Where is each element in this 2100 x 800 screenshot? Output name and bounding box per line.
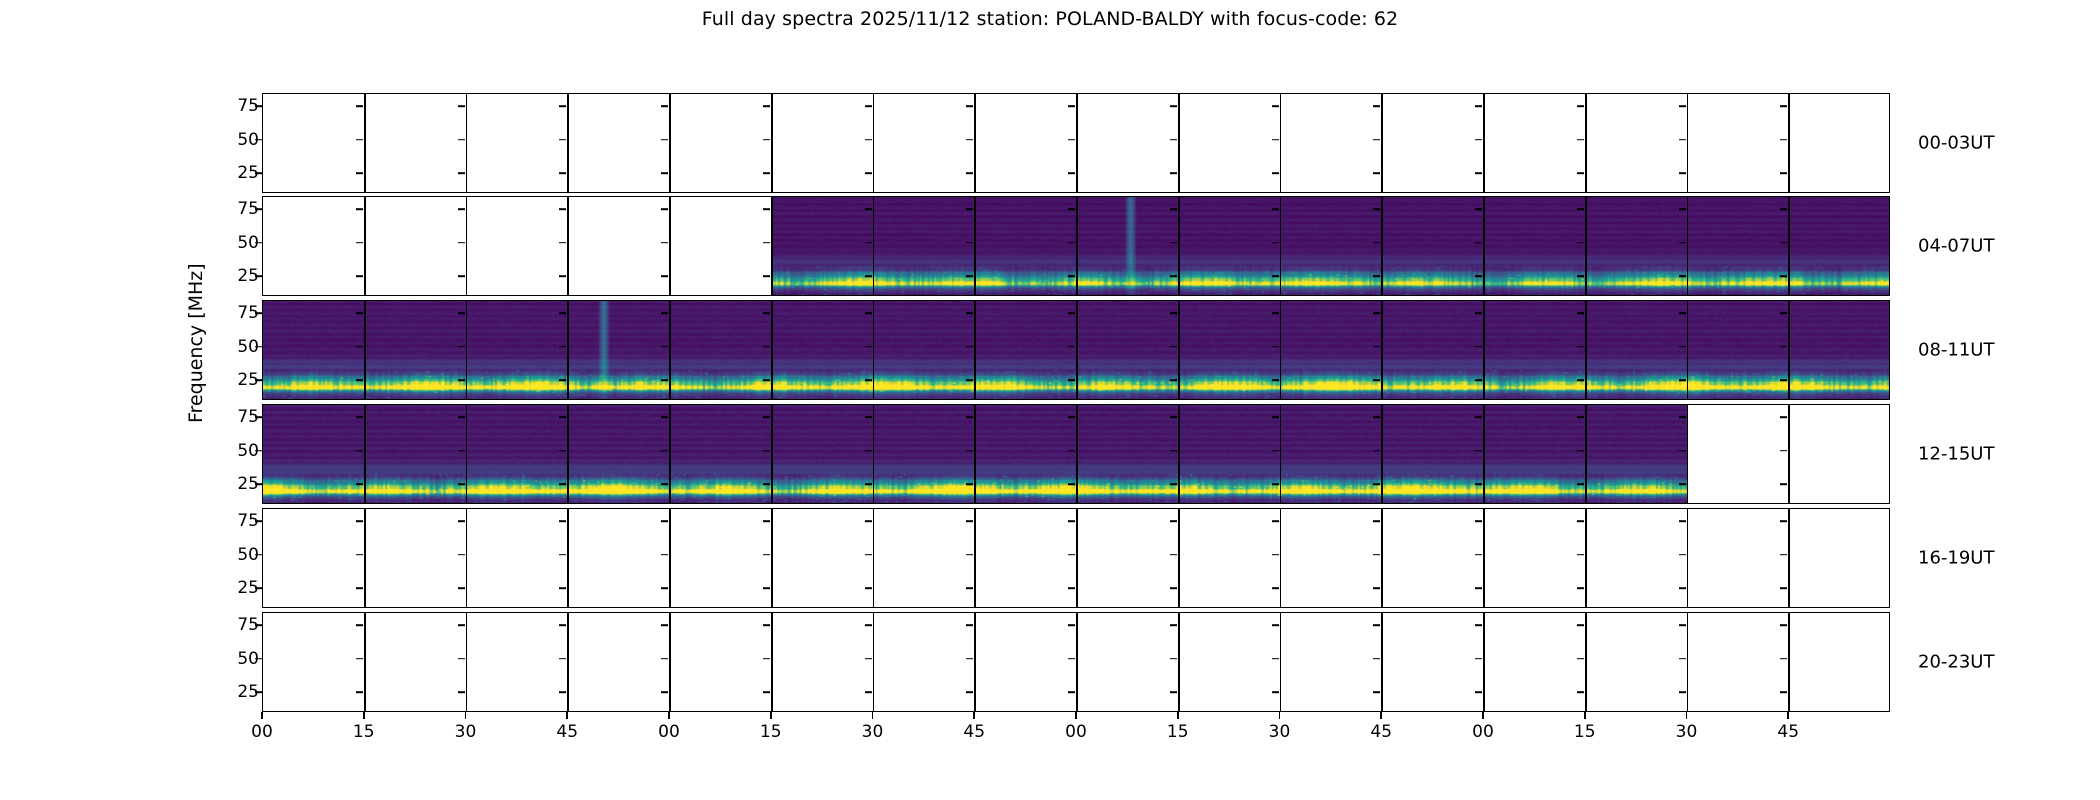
y-tick-mark-inner xyxy=(1373,483,1380,485)
y-tick-mark-inner xyxy=(1170,521,1177,523)
y-tick-mark xyxy=(255,346,262,348)
cell-divider xyxy=(1381,405,1383,503)
cell-divider xyxy=(466,613,468,711)
y-tick-mark-inner xyxy=(1679,209,1686,211)
y-tick-mark-inner xyxy=(1373,172,1380,174)
y-tick-mark-inner xyxy=(865,417,872,419)
y-tick-mark-inner xyxy=(763,139,770,141)
x-tick-label: 45 xyxy=(556,722,578,742)
y-tick-mark-inner xyxy=(763,242,770,244)
cell-divider xyxy=(1076,94,1078,192)
x-tick-label: 30 xyxy=(1676,722,1698,742)
x-tick-label: 45 xyxy=(963,722,985,742)
cell-divider xyxy=(873,301,875,399)
y-tick-mark-inner xyxy=(1373,691,1380,693)
cell-divider xyxy=(1280,301,1282,399)
y-tick-mark-inner xyxy=(1068,691,1075,693)
cell-divider xyxy=(974,613,976,711)
y-tick-mark-inner xyxy=(559,313,566,315)
cell-divider xyxy=(1178,94,1180,192)
y-tick-mark-inner xyxy=(1170,379,1177,381)
y-tick-mark-inner xyxy=(661,106,668,108)
y-tick-mark-inner xyxy=(1475,346,1482,348)
y-tick-mark-inner xyxy=(661,554,668,556)
y-tick-mark-inner xyxy=(763,313,770,315)
y-tick-mark-inner xyxy=(356,417,363,419)
y-tick-mark-inner xyxy=(1679,139,1686,141)
y-tick-mark-inner xyxy=(559,554,566,556)
y-tick-mark xyxy=(255,379,262,381)
y-tick-mark-inner xyxy=(1373,417,1380,419)
figure-title: Full day spectra 2025/11/12 station: POL… xyxy=(0,8,2100,30)
cell-divider xyxy=(364,94,366,192)
y-tick-mark-inner xyxy=(1272,450,1279,452)
y-tick-mark-inner xyxy=(1780,587,1787,589)
x-tick-label: 00 xyxy=(1472,722,1494,742)
y-tick-mark-inner xyxy=(966,172,973,174)
y-tick-mark-inner xyxy=(458,209,465,211)
cell-divider xyxy=(466,197,468,295)
y-tick-mark-inner xyxy=(458,139,465,141)
cell-divider xyxy=(1687,197,1689,295)
y-tick-mark-inner xyxy=(356,379,363,381)
cell-divider xyxy=(1280,405,1282,503)
y-tick-mark xyxy=(255,587,262,589)
cell-divider xyxy=(567,509,569,607)
y-tick-mark-inner xyxy=(559,587,566,589)
y-tick-mark-inner xyxy=(1272,483,1279,485)
y-tick-mark-inner xyxy=(1068,172,1075,174)
y-tick-mark-inner xyxy=(1780,139,1787,141)
y-tick-mark-inner xyxy=(1577,242,1584,244)
cell-divider xyxy=(466,94,468,192)
y-tick-mark-inner xyxy=(1780,275,1787,277)
cell-divider xyxy=(1076,197,1078,295)
plot-area xyxy=(262,300,1890,400)
y-tick-mark-inner xyxy=(865,346,872,348)
y-tick-mark-inner xyxy=(356,172,363,174)
cell-divider xyxy=(1483,509,1485,607)
y-tick-mark-inner xyxy=(1577,587,1584,589)
y-tick-mark-inner xyxy=(1679,346,1686,348)
spectrogram-image xyxy=(772,197,1890,295)
y-tick-mark xyxy=(255,483,262,485)
y-tick-mark-inner xyxy=(356,313,363,315)
y-tick-mark-inner xyxy=(1272,554,1279,556)
y-tick-mark xyxy=(255,625,262,627)
y-tick-mark-inner xyxy=(1373,275,1380,277)
x-tick-mark xyxy=(1482,712,1484,719)
cell-divider xyxy=(1178,301,1180,399)
y-tick-mark-inner xyxy=(458,691,465,693)
y-tick-mark-inner xyxy=(1170,625,1177,627)
y-tick-mark-inner xyxy=(1170,691,1177,693)
y-tick-mark-inner xyxy=(966,139,973,141)
y-tick-mark-inner xyxy=(1475,417,1482,419)
y-tick-mark-inner xyxy=(1272,587,1279,589)
cell-divider xyxy=(1585,405,1587,503)
y-tick-mark-inner xyxy=(1577,106,1584,108)
y-tick-mark-inner xyxy=(1373,139,1380,141)
y-tick-mark-inner xyxy=(356,139,363,141)
y-tick-mark-inner xyxy=(1475,106,1482,108)
y-tick-mark-inner xyxy=(1272,346,1279,348)
y-tick-mark-inner xyxy=(1373,209,1380,211)
x-tick-mark xyxy=(1787,712,1789,719)
spectrogram-figure: Full day spectra 2025/11/12 station: POL… xyxy=(0,0,2100,800)
cell-divider xyxy=(669,301,671,399)
y-tick-mark xyxy=(255,172,262,174)
x-tick-mark xyxy=(261,712,263,719)
y-tick-mark-inner xyxy=(966,691,973,693)
y-tick-mark-inner xyxy=(1170,554,1177,556)
y-tick-mark-inner xyxy=(1679,554,1686,556)
y-tick-mark-inner xyxy=(1170,242,1177,244)
cell-divider xyxy=(669,509,671,607)
cell-divider xyxy=(1483,613,1485,711)
y-tick-mark-inner xyxy=(356,554,363,556)
y-tick-mark-inner xyxy=(1679,275,1686,277)
y-tick-mark-inner xyxy=(559,209,566,211)
y-tick-mark-inner xyxy=(966,450,973,452)
y-tick-mark-inner xyxy=(1780,346,1787,348)
y-tick-mark-inner xyxy=(1475,209,1482,211)
y-tick-mark-inner xyxy=(356,625,363,627)
y-tick-mark-inner xyxy=(1780,483,1787,485)
y-tick-mark-inner xyxy=(661,209,668,211)
y-tick-mark-inner xyxy=(966,275,973,277)
y-tick-mark-inner xyxy=(458,106,465,108)
y-tick-mark-inner xyxy=(1475,521,1482,523)
subplot-row-16-19ut: 755025 xyxy=(262,508,1890,608)
y-tick-mark-inner xyxy=(966,483,973,485)
y-tick-mark-inner xyxy=(1272,691,1279,693)
y-tick-mark-inner xyxy=(1068,313,1075,315)
y-tick-mark-inner xyxy=(865,313,872,315)
cell-divider xyxy=(567,405,569,503)
y-tick-mark-inner xyxy=(559,658,566,660)
cell-divider xyxy=(1687,301,1689,399)
y-tick-mark xyxy=(255,139,262,141)
y-tick-mark-inner xyxy=(559,483,566,485)
x-tick-mark xyxy=(872,712,874,719)
plot-area xyxy=(262,93,1890,193)
y-tick-mark-inner xyxy=(661,139,668,141)
cell-divider xyxy=(1788,197,1790,295)
y-tick-mark-inner xyxy=(1170,417,1177,419)
y-tick-mark-inner xyxy=(1780,691,1787,693)
y-tick-mark-inner xyxy=(1475,450,1482,452)
y-tick-mark-inner xyxy=(559,139,566,141)
y-tick-mark-inner xyxy=(865,625,872,627)
y-tick-mark-inner xyxy=(1068,625,1075,627)
y-tick-mark-inner xyxy=(966,242,973,244)
y-tick-mark-inner xyxy=(458,313,465,315)
cell-divider xyxy=(1178,405,1180,503)
cell-divider xyxy=(1788,301,1790,399)
cell-divider xyxy=(771,405,773,503)
y-tick-mark-inner xyxy=(356,450,363,452)
x-tick-label: 00 xyxy=(251,722,273,742)
y-tick-mark-inner xyxy=(559,346,566,348)
y-tick-mark-inner xyxy=(1780,554,1787,556)
y-tick-mark-inner xyxy=(1373,379,1380,381)
cell-divider xyxy=(974,94,976,192)
cell-divider xyxy=(1280,509,1282,607)
y-tick-mark-inner xyxy=(1068,554,1075,556)
y-tick-mark-inner xyxy=(356,346,363,348)
cell-divider xyxy=(466,301,468,399)
y-tick-mark-inner xyxy=(661,242,668,244)
y-tick-mark-inner xyxy=(1475,275,1482,277)
cell-divider xyxy=(1687,509,1689,607)
y-tick-mark-inner xyxy=(966,106,973,108)
y-tick-mark-inner xyxy=(1679,417,1686,419)
y-tick-mark-inner xyxy=(1068,483,1075,485)
y-tick-mark-inner xyxy=(1679,658,1686,660)
y-tick-mark-inner xyxy=(1577,450,1584,452)
x-tick-mark xyxy=(363,712,365,719)
cell-divider xyxy=(1585,197,1587,295)
cell-divider xyxy=(873,405,875,503)
x-tick-label: 30 xyxy=(862,722,884,742)
y-tick-mark-inner xyxy=(356,275,363,277)
y-tick-mark-inner xyxy=(865,554,872,556)
y-tick-mark-inner xyxy=(661,483,668,485)
y-tick-mark-inner xyxy=(356,209,363,211)
y-tick-mark-inner xyxy=(763,209,770,211)
y-tick-mark xyxy=(255,521,262,523)
cell-divider xyxy=(364,197,366,295)
y-tick-mark-inner xyxy=(966,625,973,627)
y-tick-mark-inner xyxy=(1373,313,1380,315)
y-tick-mark-inner xyxy=(1679,172,1686,174)
y-tick-mark-inner xyxy=(661,450,668,452)
row-label-12-15ut: 12-15UT xyxy=(1918,444,1994,465)
y-tick-mark-inner xyxy=(458,483,465,485)
subplot-row-08-11ut: 755025 xyxy=(262,300,1890,400)
cell-divider xyxy=(771,94,773,192)
y-tick-mark-inner xyxy=(661,313,668,315)
cell-divider xyxy=(1076,301,1078,399)
y-tick-mark-inner xyxy=(1475,139,1482,141)
x-tick-label: 15 xyxy=(1574,722,1596,742)
cell-divider xyxy=(1076,613,1078,711)
cell-divider xyxy=(1178,197,1180,295)
y-tick-mark-inner xyxy=(356,658,363,660)
y-tick-mark-inner xyxy=(763,379,770,381)
y-tick-mark-inner xyxy=(458,346,465,348)
y-tick-mark-inner xyxy=(1068,242,1075,244)
y-tick-mark-inner xyxy=(865,587,872,589)
cell-divider xyxy=(1585,301,1587,399)
y-tick-mark-inner xyxy=(1577,554,1584,556)
y-tick-mark-inner xyxy=(1373,554,1380,556)
cell-divider xyxy=(873,509,875,607)
y-tick-mark-inner xyxy=(458,658,465,660)
y-tick-mark xyxy=(255,554,262,556)
cell-divider xyxy=(364,405,366,503)
y-tick-mark-inner xyxy=(1577,691,1584,693)
subplot-row-04-07ut: 755025 xyxy=(262,196,1890,296)
cell-divider xyxy=(974,197,976,295)
x-tick-label: 15 xyxy=(760,722,782,742)
y-tick-mark-inner xyxy=(763,275,770,277)
y-tick-mark-inner xyxy=(1170,313,1177,315)
cell-divider xyxy=(1280,94,1282,192)
y-tick-mark-inner xyxy=(559,625,566,627)
cell-divider xyxy=(669,197,671,295)
cell-divider xyxy=(567,613,569,711)
y-tick-mark-inner xyxy=(1068,417,1075,419)
cell-divider xyxy=(1178,613,1180,711)
cell-divider xyxy=(466,509,468,607)
y-tick-mark-inner xyxy=(763,554,770,556)
y-tick-mark-inner xyxy=(1679,625,1686,627)
y-tick-mark-inner xyxy=(1170,139,1177,141)
y-tick-mark xyxy=(255,242,262,244)
y-tick-mark-inner xyxy=(763,658,770,660)
y-tick-mark-inner xyxy=(1373,521,1380,523)
y-tick-mark-inner xyxy=(1170,450,1177,452)
y-tick-mark-inner xyxy=(559,417,566,419)
y-tick-mark xyxy=(255,209,262,211)
y-tick-mark-inner xyxy=(1577,521,1584,523)
y-tick-mark-inner xyxy=(1475,625,1482,627)
y-tick-mark-inner xyxy=(1577,417,1584,419)
y-tick-mark-inner xyxy=(1068,106,1075,108)
y-tick-mark-inner xyxy=(458,172,465,174)
y-tick-mark-inner xyxy=(1780,313,1787,315)
x-tick-mark xyxy=(668,712,670,719)
y-tick-mark-inner xyxy=(661,587,668,589)
cell-divider xyxy=(1687,405,1689,503)
y-tick-mark-inner xyxy=(661,275,668,277)
y-tick-mark-inner xyxy=(1272,658,1279,660)
row-label-20-23ut: 20-23UT xyxy=(1918,652,1994,673)
y-tick-mark-inner xyxy=(966,554,973,556)
x-tick-mark xyxy=(465,712,467,719)
y-tick-mark-inner xyxy=(458,417,465,419)
row-label-00-03ut: 00-03UT xyxy=(1918,133,1994,154)
x-tick-mark xyxy=(1177,712,1179,719)
y-tick-mark-inner xyxy=(865,521,872,523)
subplot-row-00-03ut: 755025 xyxy=(262,93,1890,193)
y-tick-mark-inner xyxy=(1780,242,1787,244)
y-tick-mark-inner xyxy=(865,658,872,660)
y-tick-mark-inner xyxy=(661,658,668,660)
y-tick-mark xyxy=(255,691,262,693)
y-tick-mark-inner xyxy=(661,346,668,348)
y-tick-mark-inner xyxy=(966,379,973,381)
y-tick-mark-inner xyxy=(763,346,770,348)
y-tick-mark-inner xyxy=(458,450,465,452)
cell-divider xyxy=(771,509,773,607)
x-tick-mark xyxy=(770,712,772,719)
y-tick-mark-inner xyxy=(1272,417,1279,419)
y-tick-mark-inner xyxy=(1577,379,1584,381)
cell-divider xyxy=(1687,613,1689,711)
y-tick-mark-inner xyxy=(1068,521,1075,523)
y-tick-mark-inner xyxy=(559,521,566,523)
row-label-16-19ut: 16-19UT xyxy=(1918,548,1994,569)
y-tick-mark-inner xyxy=(1679,106,1686,108)
y-tick-mark-inner xyxy=(661,521,668,523)
y-tick-mark-inner xyxy=(1780,106,1787,108)
row-label-04-07ut: 04-07UT xyxy=(1918,236,1994,257)
y-tick-mark xyxy=(255,313,262,315)
cell-divider xyxy=(1381,301,1383,399)
y-tick-mark-inner xyxy=(1780,625,1787,627)
y-tick-mark-inner xyxy=(865,691,872,693)
y-tick-mark-inner xyxy=(1272,209,1279,211)
y-tick-mark-inner xyxy=(1679,242,1686,244)
y-tick-mark-inner xyxy=(1475,691,1482,693)
y-tick-mark-inner xyxy=(1475,242,1482,244)
y-tick-mark-inner xyxy=(1272,139,1279,141)
y-tick-mark-inner xyxy=(559,242,566,244)
cell-divider xyxy=(1585,509,1587,607)
y-tick-mark-inner xyxy=(763,625,770,627)
y-tick-mark-inner xyxy=(763,587,770,589)
y-tick-mark-inner xyxy=(1170,106,1177,108)
cell-divider xyxy=(669,613,671,711)
y-tick-mark-inner xyxy=(1272,275,1279,277)
y-tick-mark-inner xyxy=(966,209,973,211)
y-tick-mark-inner xyxy=(763,521,770,523)
plot-area xyxy=(262,508,1890,608)
cell-divider xyxy=(364,509,366,607)
y-tick-mark-inner xyxy=(661,417,668,419)
y-tick-mark-inner xyxy=(1577,139,1584,141)
x-tick-label: 30 xyxy=(1269,722,1291,742)
cell-divider xyxy=(1381,509,1383,607)
x-tick-label: 15 xyxy=(1167,722,1189,742)
y-tick-mark-inner xyxy=(1679,450,1686,452)
y-tick-mark-inner xyxy=(1373,242,1380,244)
y-tick-mark-inner xyxy=(1780,172,1787,174)
y-tick-mark-inner xyxy=(1577,658,1584,660)
y-tick-mark xyxy=(255,106,262,108)
y-tick-mark xyxy=(255,658,262,660)
y-tick-mark-inner xyxy=(1475,658,1482,660)
cell-divider xyxy=(669,94,671,192)
y-tick-mark-inner xyxy=(1068,346,1075,348)
x-tick-label: 45 xyxy=(1370,722,1392,742)
y-tick-mark-inner xyxy=(1373,587,1380,589)
y-tick-mark-inner xyxy=(966,313,973,315)
y-tick-mark-inner xyxy=(865,242,872,244)
y-tick-mark-inner xyxy=(1272,172,1279,174)
y-tick-mark-inner xyxy=(865,450,872,452)
cell-divider xyxy=(771,197,773,295)
cell-divider xyxy=(1381,197,1383,295)
y-tick-mark-inner xyxy=(763,106,770,108)
y-tick-mark-inner xyxy=(559,450,566,452)
y-tick-mark-inner xyxy=(1475,172,1482,174)
y-tick-mark-inner xyxy=(1068,658,1075,660)
cell-divider xyxy=(1280,197,1282,295)
y-tick-mark-inner xyxy=(1475,587,1482,589)
y-tick-mark-inner xyxy=(1373,346,1380,348)
y-tick-mark xyxy=(255,275,262,277)
y-tick-mark-inner xyxy=(1780,450,1787,452)
y-tick-mark-inner xyxy=(1170,483,1177,485)
x-tick-label: 15 xyxy=(353,722,375,742)
y-tick-mark-inner xyxy=(865,172,872,174)
y-tick-mark-inner xyxy=(1577,625,1584,627)
cell-divider xyxy=(466,405,468,503)
